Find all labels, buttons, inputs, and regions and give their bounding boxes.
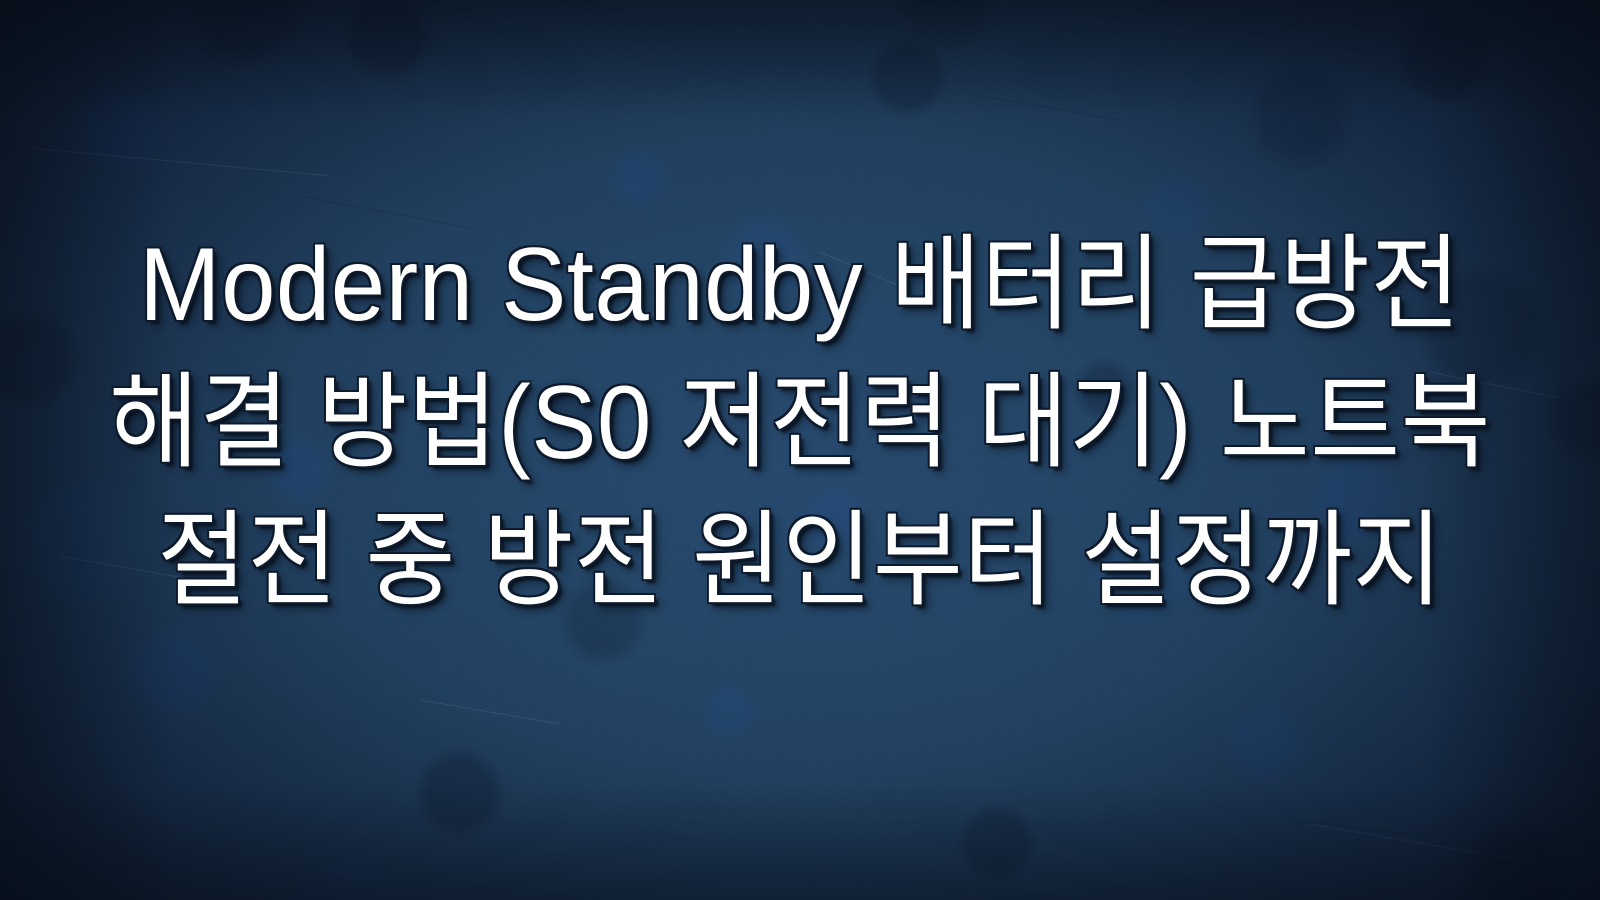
title-line-1: Modern Standby 배터리 급방전 [74, 216, 1525, 354]
title-line-2: 해결 방법(S0 저전력 대기) 노트북 [74, 354, 1525, 492]
title-line-3: 절전 중 방전 원인부터 설정까지 [74, 492, 1525, 630]
thumbnail-canvas: Modern Standby 배터리 급방전 해결 방법(S0 저전력 대기) … [0, 0, 1600, 900]
title-block: Modern Standby 배터리 급방전 해결 방법(S0 저전력 대기) … [0, 216, 1600, 630]
